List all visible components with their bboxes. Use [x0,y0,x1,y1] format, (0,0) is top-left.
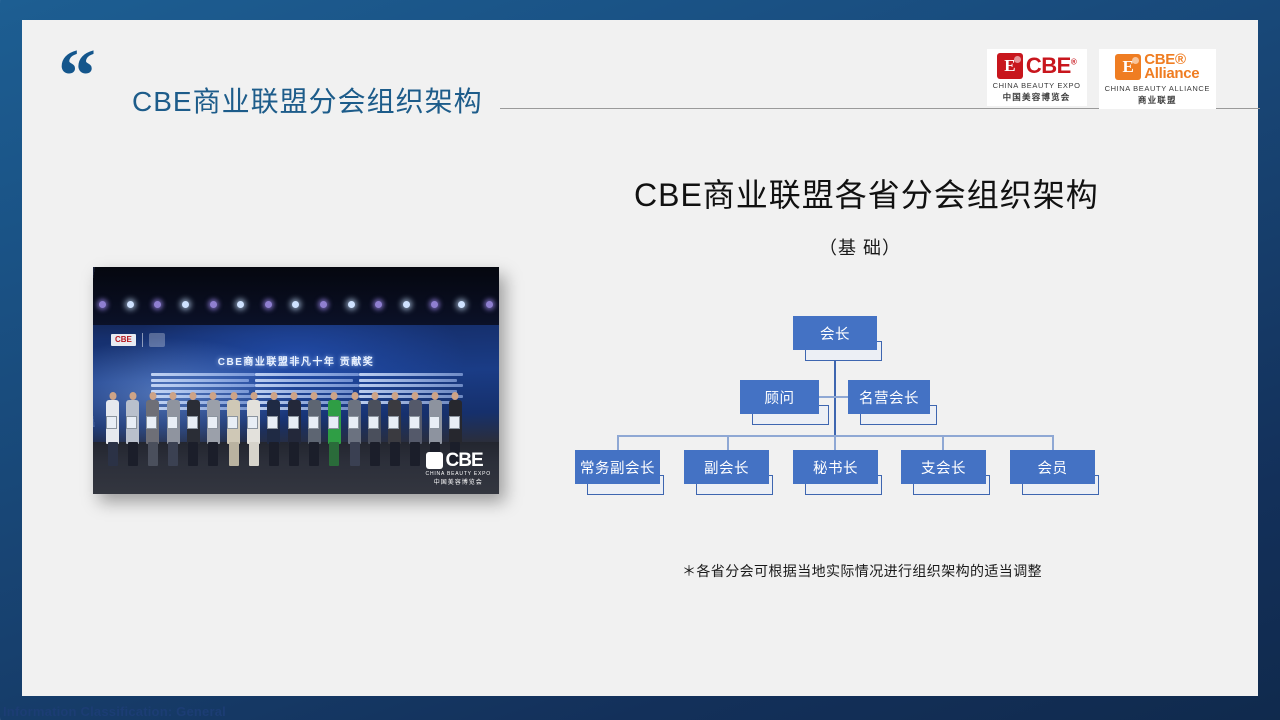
alliance-wordmark-stack: CBE® Alliance [1144,53,1199,82]
org-node-branch-president[interactable]: 支会长 [901,450,986,484]
stage-lamp-icon [210,301,217,308]
photo-watermark: CBE CHINA BEAUTY EXPO 中国美容博览会 [426,451,491,486]
org-node-member[interactable]: 会员 [1010,450,1095,484]
person [287,392,302,466]
award-recipients-group [105,388,463,466]
photo-watermark-row: CBE [426,451,491,470]
slide-content-area: “ CBE商业联盟分会组织架构 E CBE® CHINA BEAUTY EXPO… [22,20,1258,696]
led-name-line [151,373,255,376]
person [105,392,120,466]
org-node-advisor[interactable]: 顾问 [740,380,819,414]
person [347,392,362,466]
person [307,392,322,466]
led-name-line [359,373,463,376]
alliance-word-alliance: Alliance [1144,67,1199,81]
classification-label: Information Classification: General [3,704,226,719]
stage-lamp-icon [486,301,493,308]
org-node-vice-president[interactable]: 副会长 [684,450,769,484]
led-name-line [359,384,463,387]
person [387,392,402,466]
led-logo-divider [142,333,143,347]
org-node-president[interactable]: 会长 [793,316,877,350]
stage-lamp-icon [403,301,410,308]
ceremony-photo: CBE CBE商业联盟非凡十年 贡献奖 [93,267,499,494]
person [327,392,342,466]
person [145,392,160,466]
person [206,392,221,466]
person [226,392,241,466]
person [125,392,140,466]
led-name-line [151,379,249,382]
stage-lamp-icon [431,301,438,308]
org-node-secretary-general[interactable]: 秘书长 [793,450,878,484]
stage-lamp-icon [127,301,134,308]
person [246,392,261,466]
photo-background: CBE CBE商业联盟非凡十年 贡献奖 [93,267,499,494]
stage-lamp-icon [154,301,161,308]
stage-lamp-icon [292,301,299,308]
stage-lamp-icon [265,301,272,308]
stage-lamp-icon [182,301,189,308]
alliance-logo-sub-cn: 商业联盟 [1138,94,1177,106]
org-advisor-connector-line [818,396,852,398]
stage-lamp-icon [237,301,244,308]
person [408,392,423,466]
photo-watermark-word: CBE [446,451,483,470]
cbe-logo-superscript: ® [1071,57,1076,66]
cbe-logo-word-text: CBE [1026,53,1071,78]
led-partner-logo-icon [149,333,165,347]
stage-lamp-row [99,301,493,308]
stage-lamp-icon [348,301,355,308]
page-title: CBE商业联盟分会组织架构 [132,80,483,120]
main-title: CBE商业联盟各省分会组织架构 [634,170,1099,216]
stage-lamp-icon [375,301,382,308]
stage-lamp-icon [320,301,327,308]
main-subtitle: （基 础） [819,234,901,260]
org-chart-note: ＊各省分会可根据当地实际情况进行组织架构的适当调整 [682,561,1042,581]
person [186,392,201,466]
cbe-logo-row: E CBE® [997,53,1076,79]
org-node-executive-vice-president[interactable]: 常务副会长 [575,450,660,484]
cbe-logo-sub-cn: 中国美容博览会 [1003,91,1071,103]
led-name-line [151,384,255,387]
quote-mark-icon: “ [58,38,96,114]
led-headline: CBE商业联盟非凡十年 贡献奖 [103,353,489,368]
led-name-line [255,379,353,382]
led-name-line [359,379,457,382]
cbe-logo-wordmark: CBE® [1026,56,1076,77]
alliance-logo-sub-en: CHINA BEAUTY ALLIANCE [1105,84,1210,93]
logo-group: E CBE® CHINA BEAUTY EXPO 中国美容博览会 E CBE® … [987,49,1216,109]
stage-lamp-icon [458,301,465,308]
org-node-honorary-president[interactable]: 名营会长 [848,380,930,414]
led-logo-bar: CBE [111,333,165,347]
person [266,392,281,466]
person [367,392,382,466]
led-name-line [255,373,359,376]
slide-canvas: “ CBE商业联盟分会组织架构 E CBE® CHINA BEAUTY EXPO… [0,0,1280,720]
cbe-logo: E CBE® CHINA BEAUTY EXPO 中国美容博览会 [987,49,1087,106]
photo-watermark-badge-icon [426,452,443,469]
led-name-line [255,384,359,387]
photo-watermark-sub-cn: 中国美容博览会 [426,477,491,486]
led-cbe-logo: CBE [111,334,136,346]
cbe-badge-icon: E [997,53,1023,79]
alliance-logo-row: E CBE® Alliance [1115,53,1199,82]
stage-lamp-icon [99,301,106,308]
alliance-badge-icon: E [1115,54,1141,80]
person [166,392,181,466]
cbe-logo-sub-en: CHINA BEAUTY EXPO [993,81,1081,90]
cbe-alliance-logo: E CBE® Alliance CHINA BEAUTY ALLIANCE 商业… [1099,49,1216,109]
